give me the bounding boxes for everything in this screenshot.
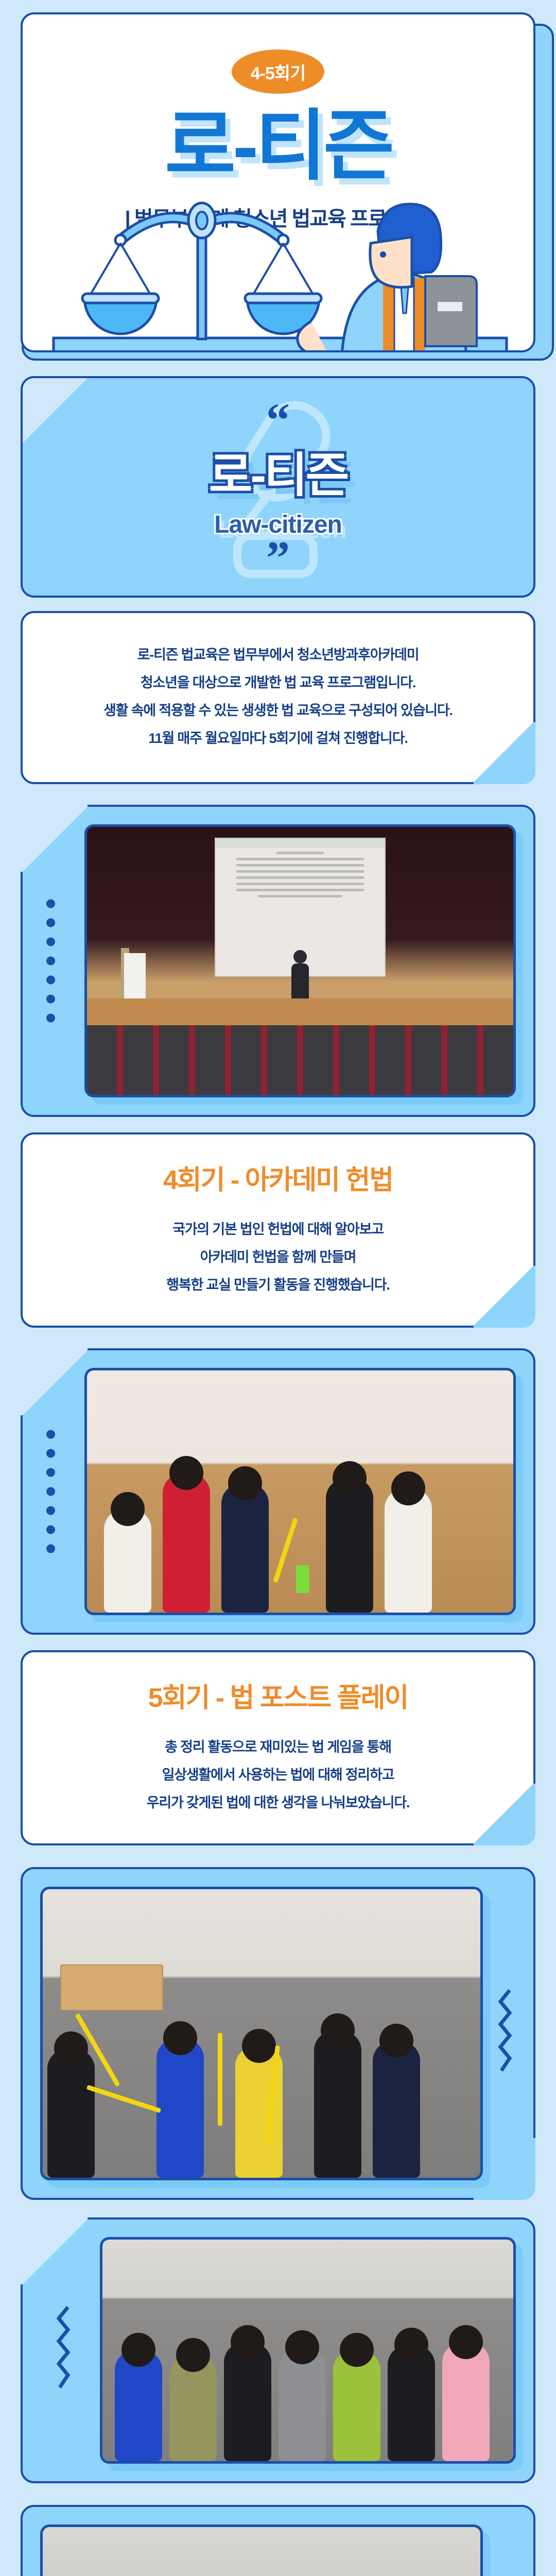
quote-open-mark: “ (23, 406, 533, 434)
session-4-text-card: 4회기 - 아카데미 헌법 국가의 기본 법인 헌법에 대해 알아보고 아카데미… (21, 1132, 535, 1328)
zigzag-decoration (54, 2304, 74, 2397)
intro-card: “ 로-티즌 Law-citizen ” (21, 376, 535, 598)
gallery-photo-stick-game (40, 1887, 483, 2180)
quote-close-mark: ” (23, 544, 533, 572)
session-4-photo (84, 824, 516, 1097)
session-range-badge: 4-5회기 (232, 49, 324, 94)
description-line: 11월 매주 월요일마다 5회기에 걸쳐 진행합니다. (43, 724, 513, 752)
session-5-line: 우리가 갖게된 법에 대한 생각을 나눠보았습니다. (43, 1789, 513, 1817)
session-5-photo (84, 1368, 516, 1615)
description-card: 로-티즌 법교육은 법무부에서 청소년방과후아카데미 청소년을 대상으로 개발한… (21, 611, 535, 784)
session-4-line: 아카데미 헌법을 함께 만들며 (43, 1243, 513, 1271)
session-5-photo-card (21, 1348, 535, 1635)
description-line: 청소년을 대상으로 개발한 법 교육 프로그램입니다. (43, 669, 513, 697)
session-5-line: 총 정리 활동으로 재미있는 법 게임을 통해 (43, 1733, 513, 1761)
zigzag-decoration (495, 1987, 516, 2080)
gallery-photo-classroom-line (100, 2237, 516, 2464)
gallery-photo-card-3 (21, 2505, 535, 2576)
dot-decoration (46, 900, 55, 1023)
intro-title: 로-티즌 (23, 452, 533, 499)
justice-scale-and-judge-illustration (23, 200, 535, 352)
gallery-photo-card-1 (21, 1867, 535, 2200)
session-4-photo-card (21, 805, 535, 1117)
session-5-text-card: 5회기 - 법 포스트 플레이 총 정리 활동으로 재미있는 법 게임을 통해 … (21, 1650, 535, 1845)
description-line: 로-티즌 법교육은 법무부에서 청소년방과후아카데미 (43, 641, 513, 669)
session-5-line: 일상생활에서 사용하는 법에 대해 정리하고 (43, 1761, 513, 1789)
session-4-line: 국가의 기본 법인 헌법에 대해 알아보고 (43, 1215, 513, 1243)
description-line: 생활 속에 적용할 수 있는 생생한 법 교육으로 구성되어 있습니다. (43, 697, 513, 724)
audience-seats (87, 1025, 513, 1095)
page-title: 로-티즌 (23, 107, 533, 184)
gallery-photo-card-2 (21, 2217, 535, 2483)
gallery-photo-pink-cards (40, 2524, 483, 2576)
session-5-heading: 5회기 - 법 포스트 플레이 (43, 1676, 513, 1715)
infographic-page: 4-5회기 로-티즌 | 법무부 연계 청소년 법교육 프로그램 | (0, 12, 556, 2576)
session-4-line: 행복한 교실 만들기 활동을 진행했습니다. (43, 1271, 513, 1299)
header-card: 4-5회기 로-티즌 | 법무부 연계 청소년 법교육 프로그램 | (21, 12, 535, 352)
dot-decoration (46, 1430, 55, 1553)
session-4-heading: 4회기 - 아카데미 헌법 (43, 1158, 513, 1197)
